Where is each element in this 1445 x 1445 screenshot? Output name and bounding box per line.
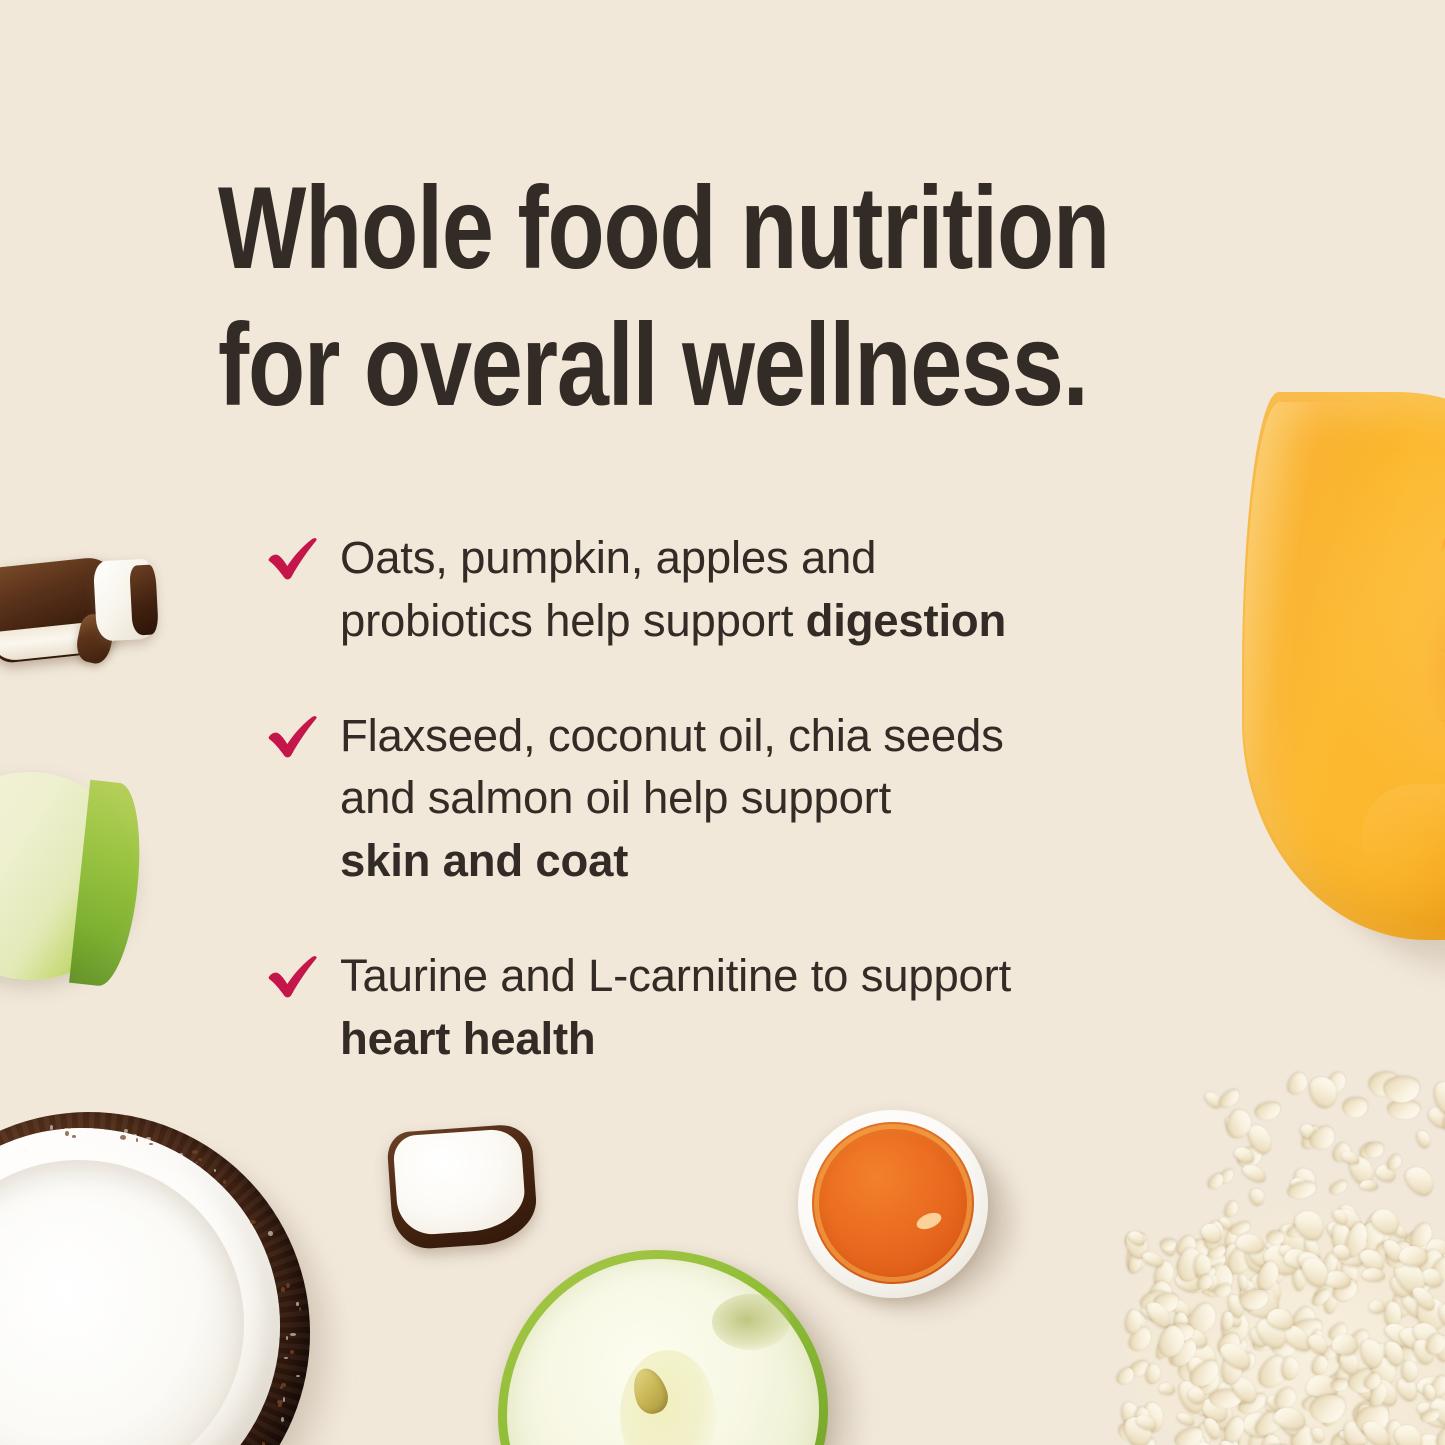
oat-flake — [1383, 1077, 1420, 1104]
oat-flake — [1342, 1096, 1369, 1119]
coconut-husk-speck — [95, 1136, 100, 1139]
list-item: Oats, pumpkin, apples and probiotics hel… — [266, 527, 1206, 653]
coconut-husk-speck — [296, 1375, 300, 1377]
page-headline: Whole food nutrition for overall wellnes… — [218, 160, 1090, 434]
list-item-line: Taurine and L-carnitine to support — [340, 945, 1206, 1008]
list-item-line-emphasis: heart health — [340, 1008, 1206, 1071]
coconut-husk-speck — [179, 1153, 182, 1158]
oats-pile-image — [1086, 1052, 1445, 1445]
list-item: Taurine and L-carnitine to support heart… — [266, 945, 1206, 1071]
check-icon — [266, 535, 320, 585]
list-item-line: Oats, pumpkin, apples and — [340, 527, 1206, 590]
emphasis-text: heart health — [340, 1013, 596, 1064]
pumpkin-half-image — [1242, 392, 1445, 952]
oat-flake — [1360, 1180, 1378, 1190]
coconut-half-image — [0, 1112, 338, 1445]
list-item-line-emphasis: skin and coat — [340, 830, 1206, 893]
apple-slice-image — [0, 761, 146, 990]
oat-flake — [1414, 1128, 1432, 1149]
check-icon — [266, 953, 320, 1003]
coconut-husk-speck — [50, 1125, 53, 1130]
list-item: Flaxseed, coconut oil, chia seeds and sa… — [266, 705, 1206, 893]
coconut-husk-speck — [23, 1147, 27, 1152]
coconut-husk-speck — [223, 1180, 225, 1184]
coconut-husk-speck — [281, 1287, 284, 1292]
oat-flake — [1284, 1070, 1311, 1099]
coconut-husk-speck — [281, 1417, 284, 1422]
coconut-husk-speck — [121, 1139, 123, 1143]
coconut-husk-speck — [78, 1129, 82, 1131]
oat-flake — [1328, 1178, 1350, 1197]
apple-half-image — [498, 1250, 848, 1445]
oil-meniscus — [814, 1124, 972, 1282]
marketing-banner: Whole food nutrition for overall wellnes… — [0, 0, 1445, 1445]
list-item-line: Flaxseed, coconut oil, chia seeds — [340, 705, 1206, 768]
coconut-husk-speck — [198, 1158, 202, 1161]
oat-flake — [1400, 1161, 1438, 1200]
coconut-husk-speck — [109, 1135, 113, 1139]
benefits-list: Oats, pumpkin, apples and probiotics hel… — [266, 527, 1206, 1070]
coconut-husk-speck — [277, 1400, 283, 1403]
coconut-husk-speck — [283, 1397, 286, 1402]
headline-line-1: Whole food nutrition — [218, 160, 1090, 297]
apple-half-stem-well — [712, 1294, 790, 1350]
coconut-husk-speck — [64, 1128, 69, 1131]
coconut-chunk-white-husk — [129, 564, 159, 635]
oil-bowl-image — [798, 1110, 1038, 1320]
coconut-husk-speck — [296, 1302, 298, 1307]
coconut-chunk-white-image — [93, 558, 157, 641]
headline-line-2: for overall wellness. — [218, 297, 1090, 434]
list-item-line-emphasis: probiotics help support digestion — [340, 590, 1206, 653]
coconut-husk-speck — [286, 1283, 290, 1288]
oat-flake — [1387, 1100, 1421, 1120]
emphasis-text: skin and coat — [340, 835, 628, 886]
list-item-line: and salmon oil help support — [340, 767, 1206, 830]
oat-flake — [1241, 1161, 1270, 1185]
coconut-husk-speck — [65, 1131, 69, 1136]
coconut-piece-image — [386, 1123, 539, 1251]
coconut-husk-speck — [268, 1231, 273, 1236]
emphasis-text: digestion — [806, 595, 1006, 646]
coconut-husk-speck — [280, 1386, 283, 1390]
coconut-husk-speck — [290, 1333, 296, 1335]
oat-flake — [1253, 1100, 1282, 1123]
coconut-husk-speck — [136, 1138, 138, 1142]
check-icon — [266, 713, 320, 763]
